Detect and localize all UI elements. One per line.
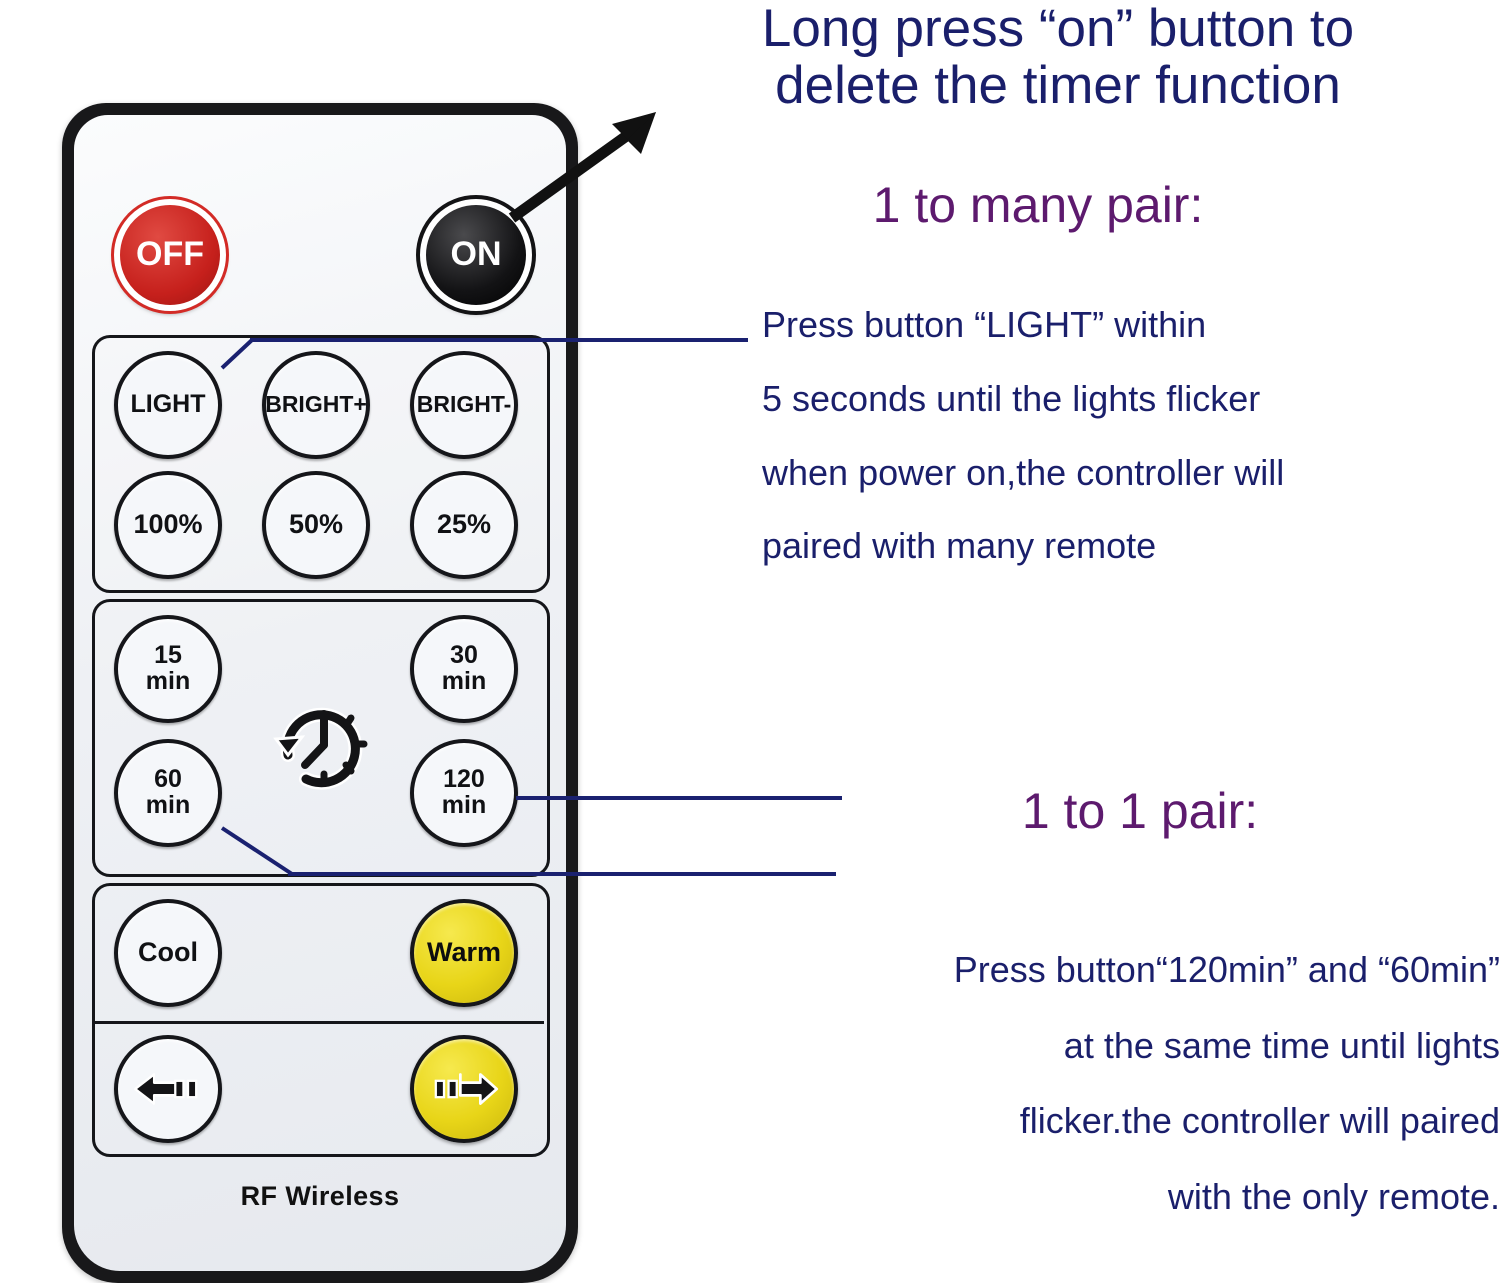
illustration-canvas: OFF ON LIGHT BRIGHT+ BRIGHT- 100% 50% 25… xyxy=(0,0,1500,1269)
one-to-one-line-1: Press button“120min” and “60min” xyxy=(744,932,1500,1008)
on-button-note-line1: Long press “on” button to xyxy=(628,0,1488,57)
cool-button[interactable]: Cool xyxy=(114,899,222,1007)
timer-60min-button[interactable]: 60 min xyxy=(114,739,222,847)
arrow-left-icon xyxy=(131,1069,205,1109)
remote-control-device: OFF ON LIGHT BRIGHT+ BRIGHT- 100% 50% 25… xyxy=(62,103,578,1283)
group-divider xyxy=(92,1021,544,1024)
one-to-one-line-3: flicker.the controller will paired xyxy=(744,1083,1500,1159)
bright-up-button[interactable]: BRIGHT+ xyxy=(262,351,370,459)
warm-button-label: Warm xyxy=(427,939,501,967)
timer-120min-button[interactable]: 120 min xyxy=(410,739,518,847)
warm-button[interactable]: Warm xyxy=(410,899,518,1007)
brightness-25-button-label: 25% xyxy=(437,511,491,539)
on-button-note-line2: delete the timer function xyxy=(628,57,1488,114)
timer-30min-button-label: 30 min xyxy=(442,643,486,695)
arrow-left-button[interactable] xyxy=(114,1035,222,1143)
one-to-many-paragraph: Press button “LIGHT” within 5 seconds un… xyxy=(762,288,1284,583)
cool-button-label: Cool xyxy=(138,939,198,967)
on-button-note: Long press “on” button to delete the tim… xyxy=(628,0,1488,114)
one-to-many-line-4: paired with many remote xyxy=(762,509,1284,583)
timer-30min-button[interactable]: 30 min xyxy=(410,615,518,723)
timer-15min-button[interactable]: 15 min xyxy=(114,615,222,723)
one-to-one-heading: 1 to 1 pair: xyxy=(860,782,1420,840)
timer-15min-button-label: 15 min xyxy=(146,643,190,695)
light-button[interactable]: LIGHT xyxy=(114,351,222,459)
bright-down-button[interactable]: BRIGHT- xyxy=(410,351,518,459)
brightness-100-button[interactable]: 100% xyxy=(114,471,222,579)
brightness-50-button-label: 50% xyxy=(289,511,343,539)
one-to-many-line-3: when power on,the controller will xyxy=(762,436,1284,510)
one-to-one-line-4: with the only remote. xyxy=(744,1159,1500,1235)
arrow-right-icon xyxy=(427,1069,501,1109)
clock-rotate-icon xyxy=(254,681,382,805)
brightness-50-button[interactable]: 50% xyxy=(262,471,370,579)
arrow-right-button[interactable] xyxy=(410,1035,518,1143)
brightness-100-button-label: 100% xyxy=(133,511,202,539)
off-button-label: OFF xyxy=(136,237,204,272)
rf-wireless-label: RF Wireless xyxy=(62,1181,578,1212)
timer-60min-button-label: 60 min xyxy=(146,767,190,819)
on-button[interactable]: ON xyxy=(420,199,532,311)
one-to-many-line-2: 5 seconds until the lights flicker xyxy=(762,362,1284,436)
one-to-one-line-2: at the same time until lights xyxy=(744,1008,1500,1084)
one-to-many-line-1: Press button “LIGHT” within xyxy=(762,288,1284,362)
light-button-label: LIGHT xyxy=(131,392,206,418)
on-button-label: ON xyxy=(451,237,502,272)
one-to-many-heading: 1 to many pair: xyxy=(628,176,1448,234)
brightness-25-button[interactable]: 25% xyxy=(410,471,518,579)
timer-120min-button-label: 120 min xyxy=(442,767,486,819)
one-to-one-paragraph: Press button“120min” and “60min” at the … xyxy=(744,932,1500,1234)
bright-down-button-label: BRIGHT- xyxy=(417,393,512,417)
bright-up-button-label: BRIGHT+ xyxy=(265,393,367,417)
off-button[interactable]: OFF xyxy=(114,199,226,311)
